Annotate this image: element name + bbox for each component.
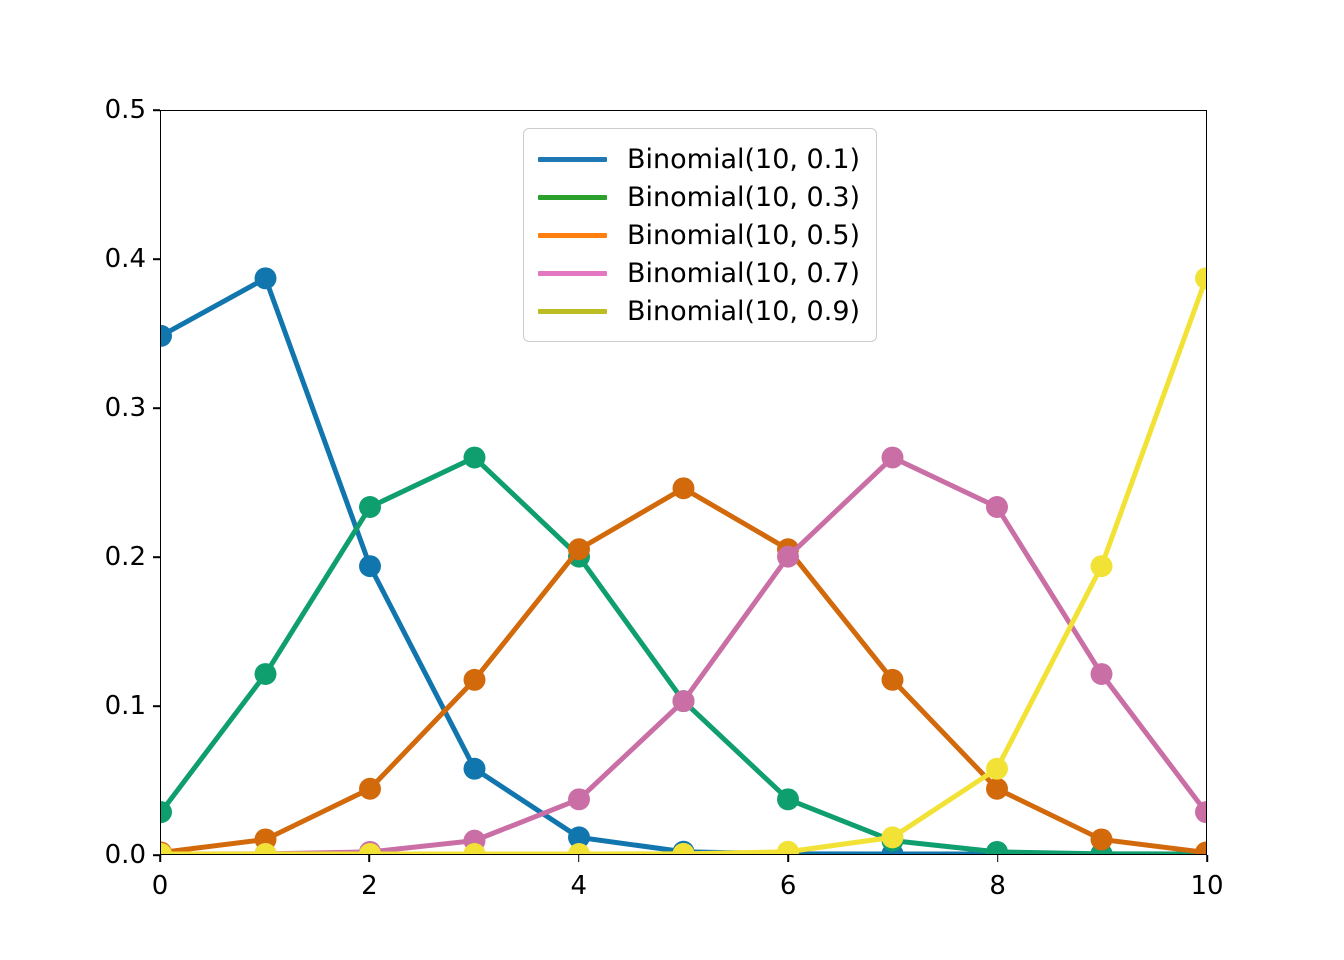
series-1 bbox=[161, 267, 1206, 854]
data-point-marker bbox=[255, 663, 277, 685]
figure-canvas: 0.00.10.20.30.40.5 0246810 Binomial(10, … bbox=[0, 0, 1344, 960]
data-point-marker bbox=[986, 758, 1008, 780]
data-point-marker bbox=[1091, 828, 1113, 850]
data-point-marker bbox=[777, 788, 799, 810]
data-point-marker bbox=[255, 267, 277, 289]
legend-label: Binomial(10, 0.3) bbox=[627, 184, 860, 211]
data-point-marker bbox=[882, 447, 904, 469]
data-point-marker bbox=[359, 496, 381, 518]
x-tick-label: 2 bbox=[329, 873, 409, 899]
data-point-marker bbox=[464, 758, 486, 780]
legend-swatch-icon bbox=[538, 309, 607, 314]
y-tick-mark bbox=[153, 556, 160, 558]
legend-item: Binomial(10, 0.1) bbox=[538, 140, 860, 178]
y-tick-label: 0.1 bbox=[36, 693, 146, 719]
data-point-marker bbox=[1195, 842, 1206, 854]
data-point-marker bbox=[568, 788, 590, 810]
legend-label: Binomial(10, 0.5) bbox=[627, 222, 860, 249]
y-tick-mark bbox=[153, 705, 160, 707]
x-tick-mark bbox=[1206, 855, 1208, 862]
data-point-marker bbox=[986, 496, 1008, 518]
series-line bbox=[161, 458, 1206, 854]
x-tick-label: 4 bbox=[539, 873, 619, 899]
data-point-marker bbox=[1091, 555, 1113, 577]
data-point-marker bbox=[464, 669, 486, 691]
x-tick-label: 0 bbox=[120, 873, 200, 899]
series-line bbox=[161, 278, 1206, 854]
data-point-marker bbox=[986, 841, 1008, 854]
series-line bbox=[161, 278, 1206, 854]
data-point-marker bbox=[161, 843, 172, 854]
data-point-marker bbox=[882, 826, 904, 848]
legend-item: Binomial(10, 0.7) bbox=[538, 254, 860, 292]
data-point-marker bbox=[1091, 663, 1113, 685]
y-tick-mark bbox=[153, 407, 160, 409]
y-tick-mark bbox=[153, 258, 160, 260]
y-tick-label: 0.2 bbox=[36, 544, 146, 570]
data-point-marker bbox=[1195, 267, 1206, 289]
legend-swatch-icon bbox=[538, 157, 607, 162]
x-tick-mark bbox=[578, 855, 580, 862]
legend-item: Binomial(10, 0.5) bbox=[538, 216, 860, 254]
data-point-marker bbox=[673, 477, 695, 499]
series-line bbox=[161, 458, 1206, 854]
legend-item: Binomial(10, 0.9) bbox=[538, 292, 860, 330]
series-4 bbox=[161, 447, 1206, 854]
y-tick-label: 0.5 bbox=[36, 97, 146, 123]
y-tick-label: 0.4 bbox=[36, 246, 146, 272]
series-5 bbox=[161, 267, 1206, 854]
data-point-marker bbox=[673, 690, 695, 712]
legend-item: Binomial(10, 0.3) bbox=[538, 178, 860, 216]
data-point-marker bbox=[464, 447, 486, 469]
legend: Binomial(10, 0.1)Binomial(10, 0.3)Binomi… bbox=[523, 128, 877, 342]
x-tick-label: 6 bbox=[748, 873, 828, 899]
x-tick-label: 10 bbox=[1167, 873, 1247, 899]
x-tick-mark bbox=[787, 855, 789, 862]
legend-label: Binomial(10, 0.7) bbox=[627, 260, 860, 287]
data-point-marker bbox=[1195, 801, 1206, 823]
legend-label: Binomial(10, 0.9) bbox=[627, 298, 860, 325]
data-point-marker bbox=[359, 778, 381, 800]
data-point-marker bbox=[359, 555, 381, 577]
data-point-marker bbox=[568, 538, 590, 560]
legend-label: Binomial(10, 0.1) bbox=[627, 146, 860, 173]
y-tick-label: 0.0 bbox=[36, 842, 146, 868]
x-tick-mark bbox=[369, 855, 371, 862]
x-tick-mark bbox=[997, 855, 999, 862]
legend-swatch-icon bbox=[538, 271, 607, 276]
y-tick-mark bbox=[153, 109, 160, 111]
data-point-marker bbox=[882, 669, 904, 691]
data-point-marker bbox=[777, 841, 799, 854]
x-tick-mark bbox=[159, 855, 161, 862]
legend-swatch-icon bbox=[538, 233, 607, 238]
series-2 bbox=[161, 447, 1206, 854]
legend-swatch-icon bbox=[538, 195, 607, 200]
y-tick-label: 0.3 bbox=[36, 395, 146, 421]
data-point-marker bbox=[777, 546, 799, 568]
data-point-marker bbox=[986, 778, 1008, 800]
x-tick-label: 8 bbox=[958, 873, 1038, 899]
data-point-marker bbox=[161, 801, 172, 823]
